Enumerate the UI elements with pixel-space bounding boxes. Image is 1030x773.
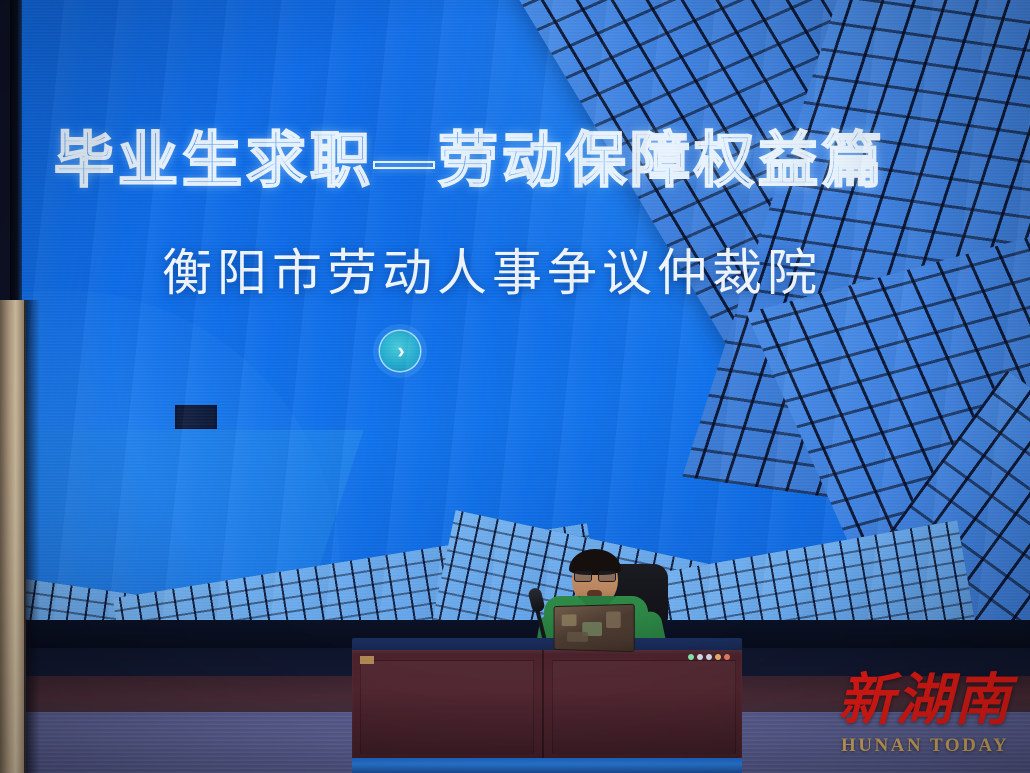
led-screen: 毕业生求职—劳动保障权益篇 衡阳市劳动人事争议仲裁院 › — [10, 0, 1030, 632]
presentation-photo: 毕业生求职—劳动保障权益篇 衡阳市劳动人事争议仲裁院 › — [0, 0, 1030, 773]
slide-subtitle: 衡阳市劳动人事争议仲裁院 — [162, 233, 822, 305]
watermark-english: HUNAN TODAY — [838, 735, 1012, 757]
podium-panel-right — [552, 660, 736, 754]
podium-indicator-lights[interactable] — [688, 654, 730, 660]
lower-building-graphic — [632, 520, 978, 632]
slide-title: 毕业生求职—劳动保障权益篇 — [54, 112, 886, 199]
podium-emblem — [360, 656, 374, 664]
podium — [352, 638, 742, 773]
laptop — [554, 604, 635, 653]
podium-panel-left — [360, 660, 534, 754]
podium-base-strip — [352, 758, 742, 773]
watermark: 新湖南 HUNAN TODAY — [838, 673, 1012, 757]
next-slide-button[interactable]: › — [380, 331, 420, 371]
left-pillar-shadow — [24, 300, 40, 773]
podium-seam — [542, 650, 544, 760]
watermark-chinese: 新湖南 — [838, 673, 1012, 729]
glasses-icon — [573, 571, 617, 580]
left-pillar — [0, 300, 26, 773]
slide-placeholder-block — [175, 405, 217, 429]
chevron-right-icon: › — [397, 340, 404, 362]
